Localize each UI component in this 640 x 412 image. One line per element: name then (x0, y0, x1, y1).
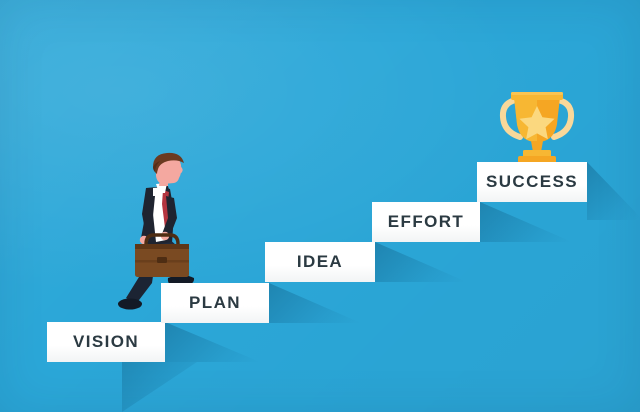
step-shadow-plan (269, 283, 361, 323)
step-label-idea: IDEA (265, 252, 375, 272)
illustration-canvas: VISION PLAN IDEA EFFORT SUCCESS (0, 0, 640, 412)
step-effort[interactable]: EFFORT (372, 202, 480, 242)
step-vision[interactable]: VISION (47, 322, 165, 362)
step-shadow-success (587, 162, 640, 220)
step-label-vision: VISION (47, 332, 165, 352)
step-idea[interactable]: IDEA (265, 242, 375, 282)
step-shadow-vision (165, 322, 260, 362)
step-shadow-effort (480, 202, 572, 242)
gold-trophy (497, 84, 577, 166)
step-plan[interactable]: PLAN (161, 283, 269, 323)
step-label-plan: PLAN (161, 293, 269, 313)
ground-shadow-vision (122, 362, 197, 412)
step-success[interactable]: SUCCESS (477, 162, 587, 202)
step-label-effort: EFFORT (372, 212, 480, 232)
step-label-success: SUCCESS (477, 172, 587, 192)
step-shadow-idea (375, 242, 467, 282)
